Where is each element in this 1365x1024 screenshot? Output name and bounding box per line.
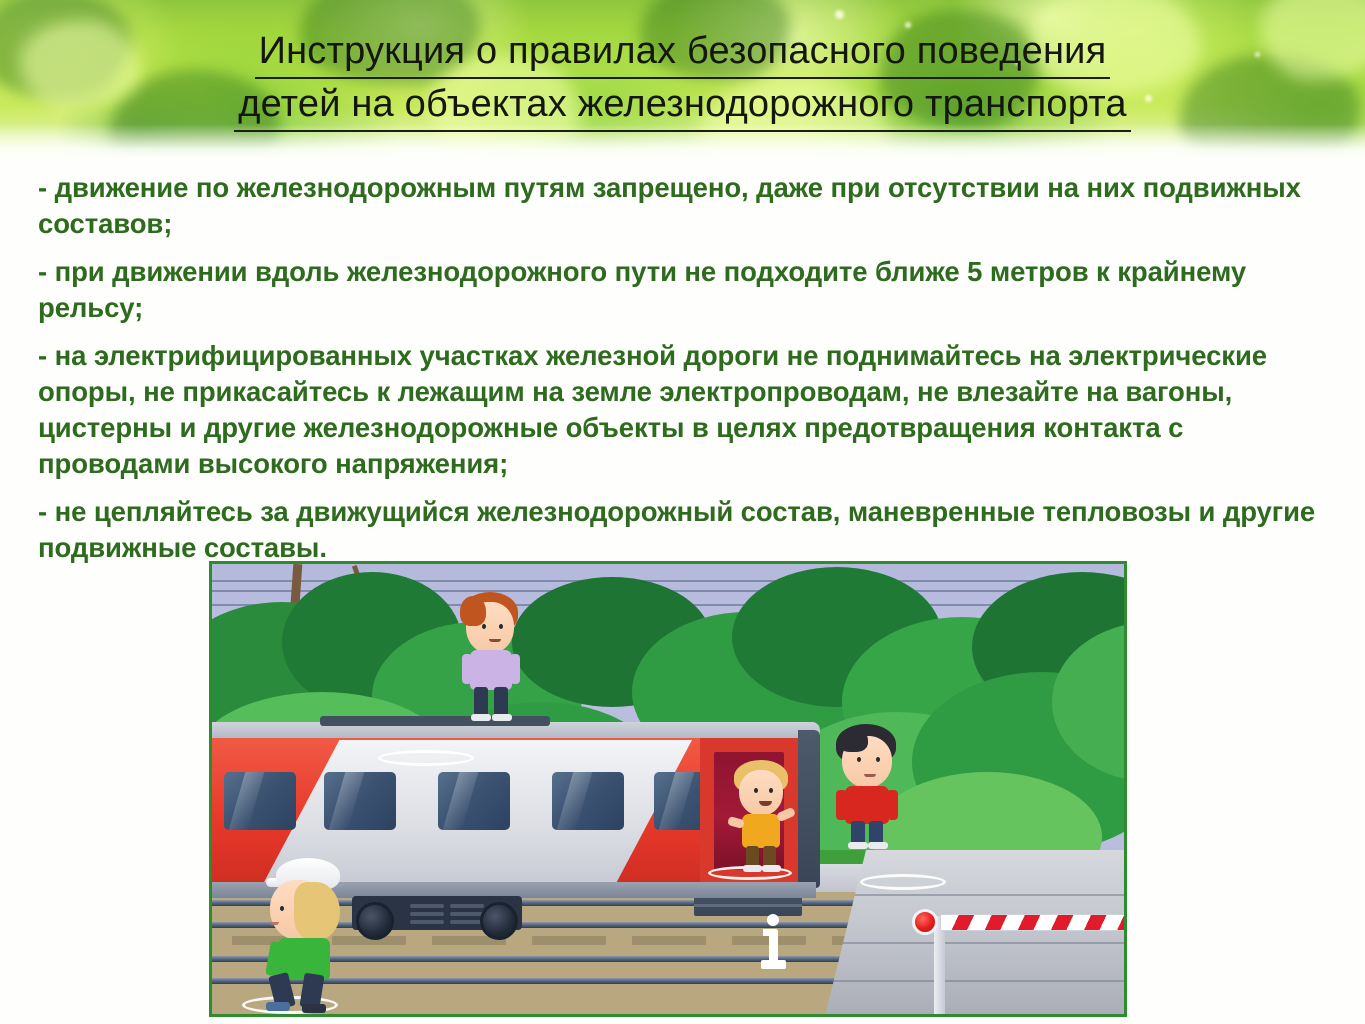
eye	[769, 788, 773, 793]
info-icon-base	[761, 960, 786, 969]
level-crossing-deck	[824, 850, 1124, 1017]
info-icon-stem	[769, 930, 778, 962]
barrier-post	[934, 916, 945, 1017]
eye	[499, 624, 503, 629]
child-on-tracks	[260, 856, 350, 1016]
step-line	[694, 904, 802, 907]
crossing-barrier-arm	[940, 914, 1127, 931]
mouth	[864, 774, 876, 777]
info-post	[760, 914, 786, 972]
shoe	[743, 865, 762, 872]
shoe	[471, 714, 491, 721]
highlight-ring-crossing	[860, 874, 946, 890]
bogie-bar	[450, 904, 484, 908]
illustration-scene	[212, 564, 1124, 1014]
rule-item: - движение по железнодорожным путям запр…	[38, 170, 1318, 242]
rule-item: - на электрифицированных участках железн…	[38, 338, 1318, 482]
eye	[857, 757, 861, 762]
leg	[494, 687, 508, 717]
rules-list: - движение по железнодорожным путям запр…	[38, 170, 1318, 566]
rail-sleeper	[632, 936, 706, 945]
shoe	[492, 714, 512, 721]
carriage-window	[552, 772, 624, 830]
child-on-roof	[456, 592, 526, 728]
shoe	[266, 1002, 290, 1011]
bogie-bar	[450, 920, 484, 924]
eye	[754, 788, 758, 793]
arm	[836, 790, 847, 820]
carriage-window	[224, 772, 296, 830]
slide-root: Инструкция о правилах безопасного поведе…	[0, 0, 1365, 1024]
carriage-window	[438, 772, 510, 830]
shoe	[848, 842, 868, 849]
roof-highlight-ring	[378, 750, 474, 766]
arm	[510, 654, 520, 684]
eye	[482, 624, 486, 629]
mouth	[489, 639, 501, 642]
eye	[280, 906, 284, 911]
arm	[887, 790, 898, 820]
rule-item: - не цепляйтесь за движущийся железнодор…	[38, 494, 1318, 566]
shoe	[868, 842, 888, 849]
page-title-line-2: детей на объектах железнодорожного транс…	[234, 79, 1131, 132]
train-wheel	[356, 902, 394, 940]
deck-seam	[824, 894, 1124, 896]
carriage-window	[324, 772, 396, 830]
child-in-doorway	[730, 760, 796, 876]
rule-item: - при движении вдоль железнодорожного пу…	[38, 254, 1318, 326]
arm-right-waving	[776, 807, 796, 823]
torso-jacket	[845, 786, 889, 824]
child-on-crossing	[832, 724, 904, 854]
train-wheel	[480, 902, 518, 940]
bogie-bar	[450, 912, 484, 916]
page-title-line-1: Инструкция о правилах безопасного поведе…	[255, 26, 1111, 79]
rail-sleeper	[532, 936, 606, 945]
crossing-signal-light	[912, 909, 938, 935]
arm	[462, 654, 472, 684]
shoe	[762, 865, 781, 872]
carriage-end-panel	[798, 730, 820, 888]
hair-side	[460, 596, 486, 626]
leg	[474, 687, 488, 717]
page-title: Инструкция о правилах безопасного поведе…	[0, 26, 1365, 132]
bogie-bar	[410, 920, 444, 924]
railway-safety-illustration	[209, 561, 1127, 1017]
info-icon-dot	[767, 914, 779, 926]
bogie-bar	[410, 904, 444, 908]
sparkle-dot	[835, 10, 844, 19]
header-banner: Инструкция о правилах безопасного поведе…	[0, 0, 1365, 158]
torso	[470, 650, 512, 690]
deck-seam	[824, 942, 1124, 944]
eye	[876, 757, 880, 762]
head	[739, 770, 783, 816]
deck-seam	[824, 980, 1124, 982]
hair	[294, 882, 340, 940]
bogie-bar	[410, 912, 444, 916]
hair-fringe	[838, 728, 868, 752]
torso	[742, 814, 780, 848]
shoe	[302, 1004, 326, 1013]
